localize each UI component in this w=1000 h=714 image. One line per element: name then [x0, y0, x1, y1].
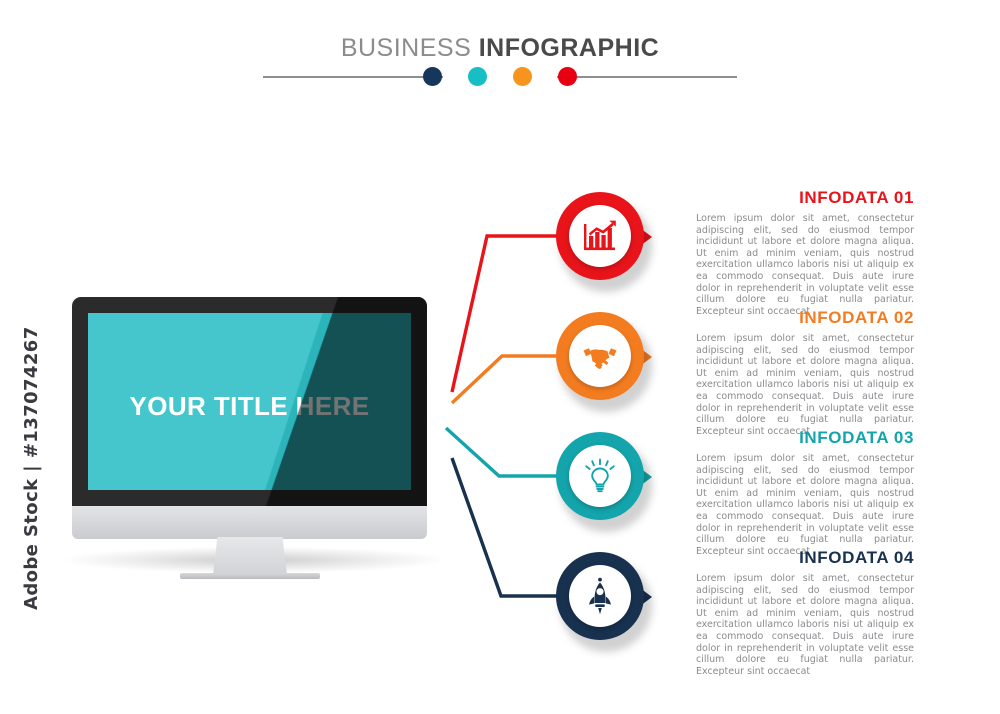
infodata-row[interactable]: INFODATA 03 Lorem ipsum dolor sit amet, …: [556, 432, 956, 542]
lightbulb-idea-icon: [569, 445, 631, 507]
header-dots: [0, 67, 1000, 86]
dot-navy: [423, 67, 442, 86]
infodata-body: Lorem ipsum dolor sit amet, consectetur …: [696, 573, 914, 677]
infodata-text-block: INFODATA 01 Lorem ipsum dolor sit amet, …: [696, 188, 914, 317]
infodata-body: Lorem ipsum dolor sit amet, consectetur …: [696, 453, 914, 557]
page-title-light: BUSINESS: [341, 34, 479, 62]
bar-chart-growth-icon: [569, 205, 631, 267]
infodata-text-block: INFODATA 03 Lorem ipsum dolor sit amet, …: [696, 428, 914, 557]
dot-orange: [513, 67, 532, 86]
rocket-launch-icon: [569, 565, 631, 627]
infodata-badge-04[interactable]: [556, 552, 652, 648]
infodata-heading: INFODATA 03: [696, 428, 914, 448]
handshake-icon: [569, 325, 631, 387]
watermark-sidebar: Adobe Stock | #137074267: [0, 0, 30, 714]
header: BUSINESS INFOGRAPHIC: [0, 34, 1000, 90]
monitor-stand: [213, 537, 287, 575]
infodata-heading: INFODATA 01: [696, 188, 914, 208]
infodata-row[interactable]: INFODATA 04 Lorem ipsum dolor sit amet, …: [556, 552, 956, 662]
infodata-text-block: INFODATA 02 Lorem ipsum dolor sit amet, …: [696, 308, 914, 437]
infodata-badge-01[interactable]: [556, 192, 652, 288]
monitor-mockup: YOUR TITLE HERE: [72, 297, 427, 522]
watermark-label: Adobe Stock | #137074267: [17, 360, 47, 610]
infodata-badge-03[interactable]: [556, 432, 652, 528]
infodata-heading: INFODATA 04: [696, 548, 914, 568]
infodata-badge-02[interactable]: [556, 312, 652, 408]
infodata-heading: INFODATA 02: [696, 308, 914, 328]
infodata-body: Lorem ipsum dolor sit amet, consectetur …: [696, 333, 914, 437]
page-title-bold: INFOGRAPHIC: [479, 34, 660, 62]
monitor-bezel: YOUR TITLE HERE: [72, 297, 427, 509]
infodata-body: Lorem ipsum dolor sit amet, consectetur …: [696, 213, 914, 317]
dot-teal: [468, 67, 487, 86]
dot-red: [558, 67, 577, 86]
infographic-canvas: Adobe Stock | #137074267 BUSINESS INFOGR…: [0, 0, 1000, 714]
monitor-body: [72, 506, 427, 539]
infodata-text-block: INFODATA 04 Lorem ipsum dolor sit amet, …: [696, 548, 914, 677]
page-title: BUSINESS INFOGRAPHIC: [0, 34, 1000, 63]
infodata-row[interactable]: INFODATA 01 Lorem ipsum dolor sit amet, …: [556, 192, 956, 302]
bezel-gloss: [72, 297, 427, 509]
infodata-row[interactable]: INFODATA 02 Lorem ipsum dolor sit amet, …: [556, 312, 956, 422]
monitor-stand-base: [180, 573, 320, 579]
